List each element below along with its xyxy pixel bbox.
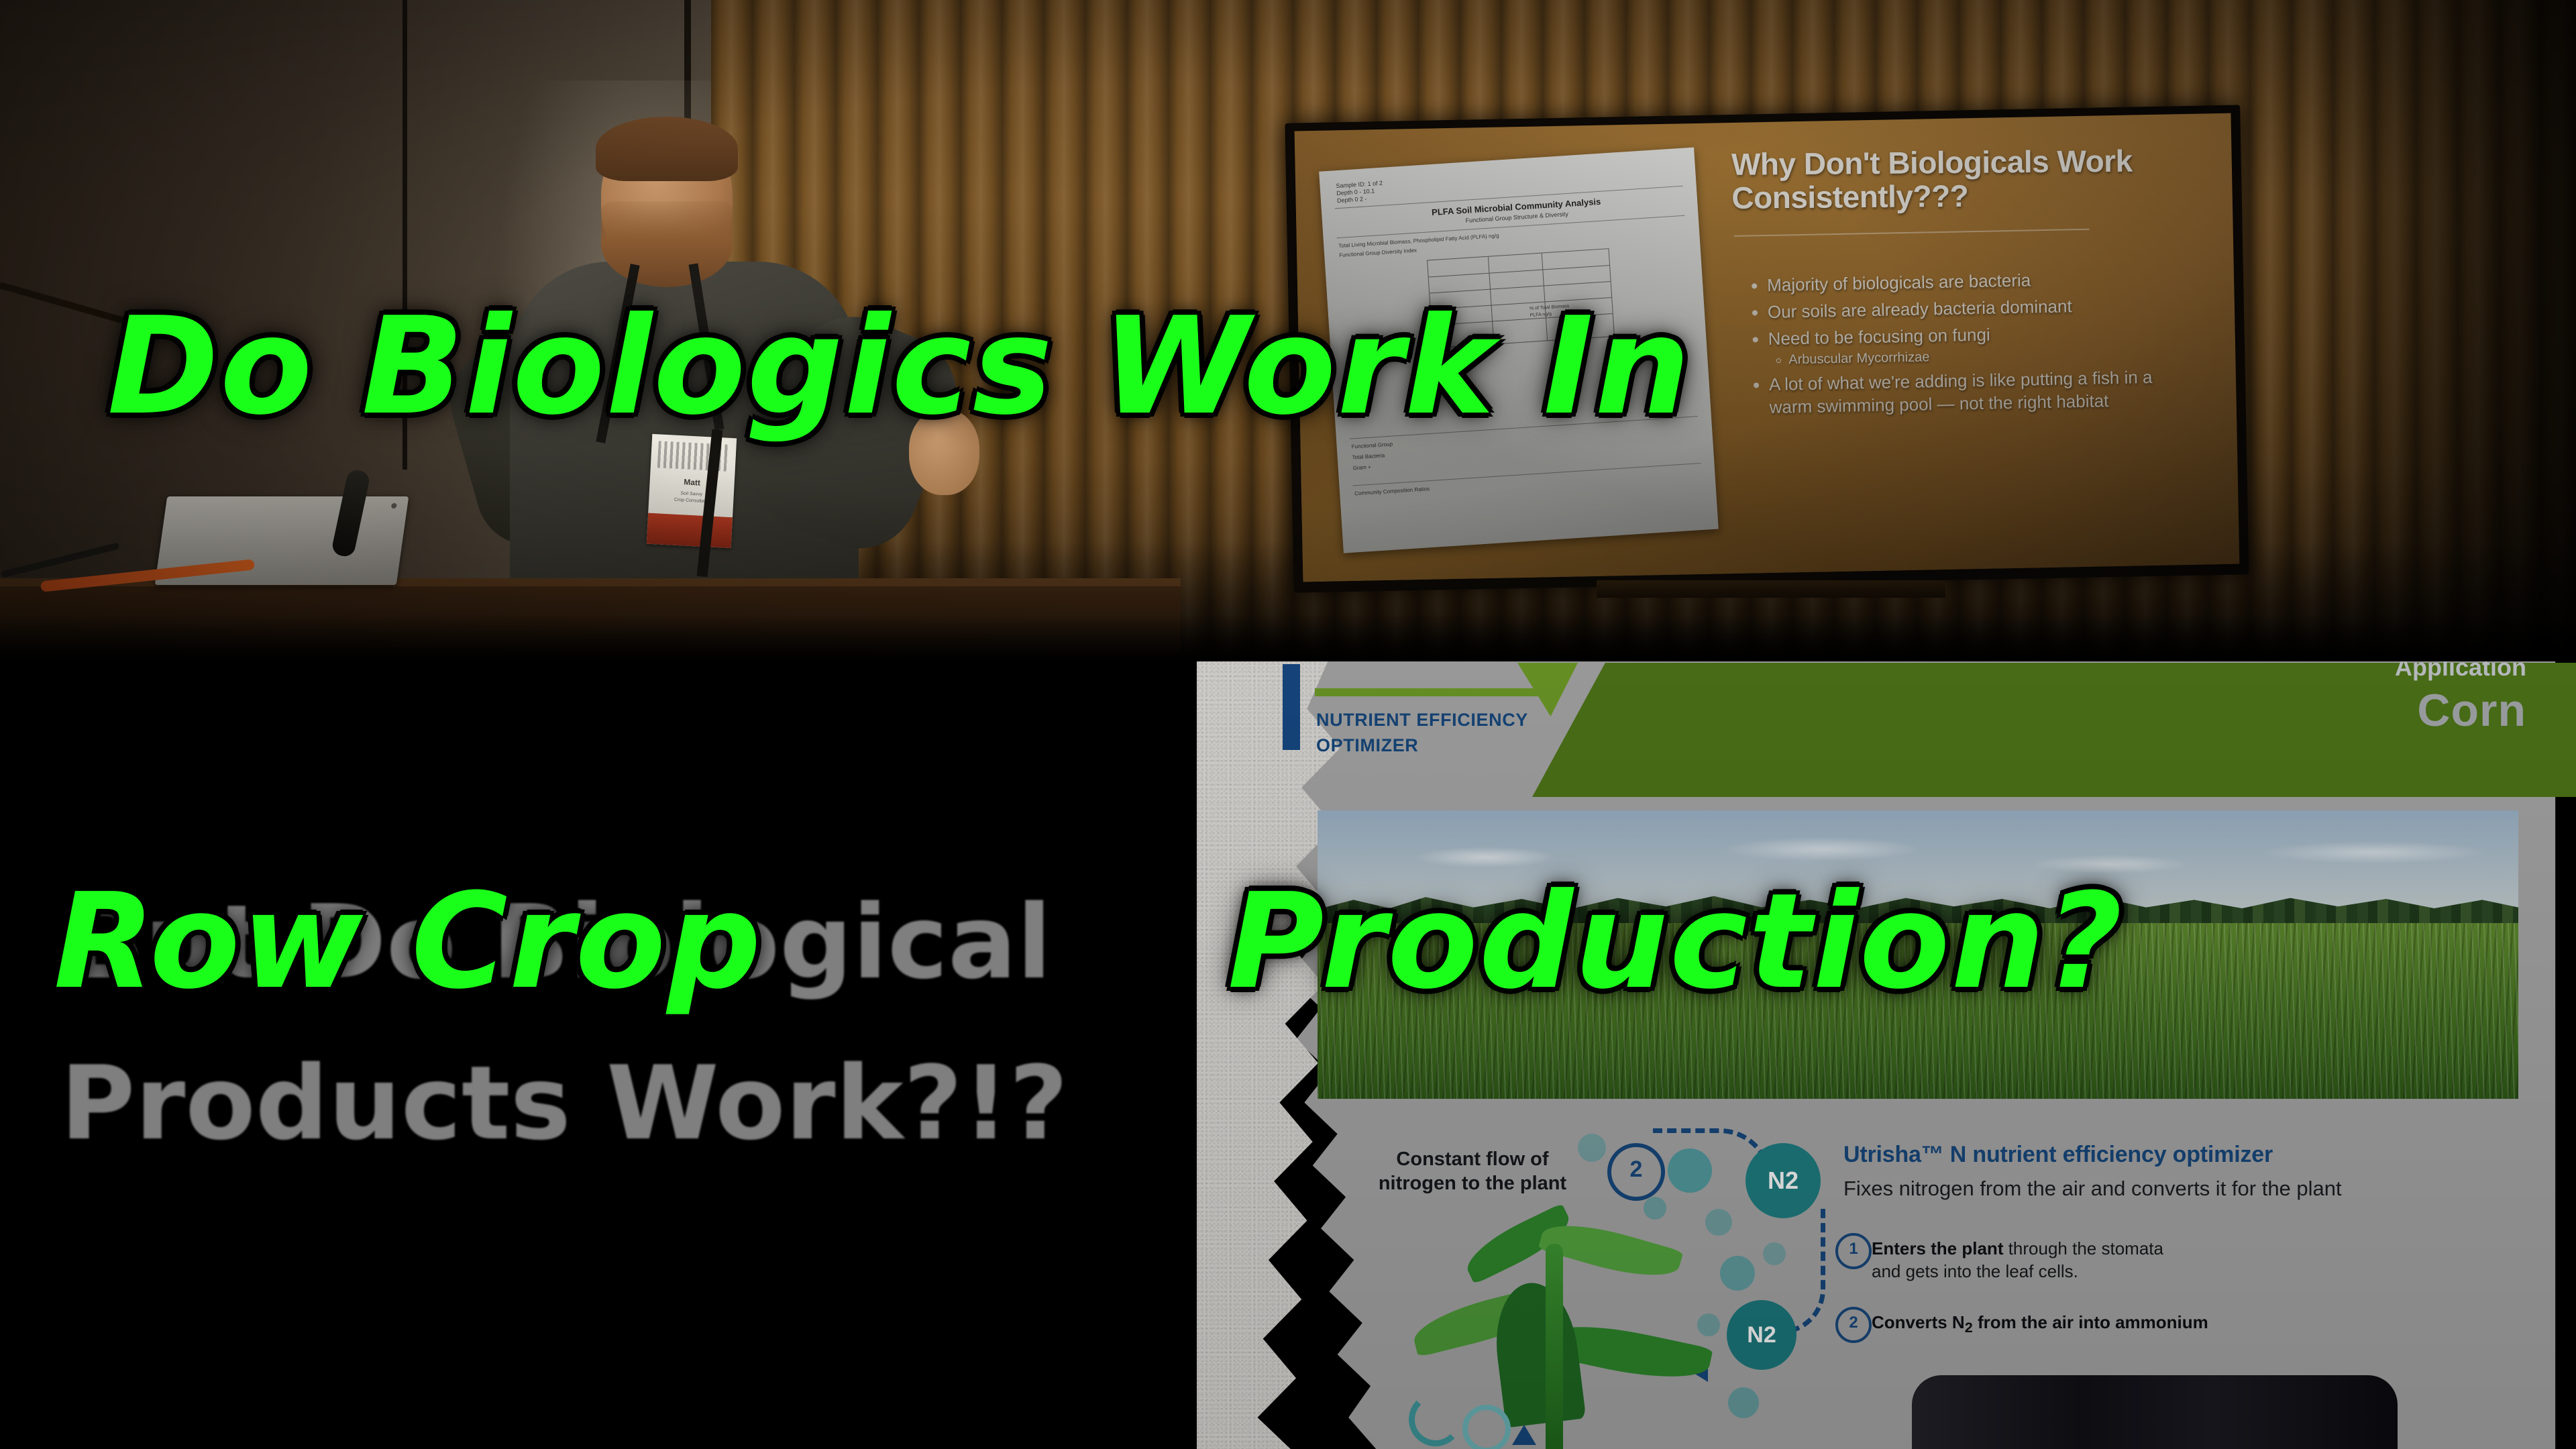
step-1-rest: through the stomata bbox=[2003, 1238, 2163, 1258]
nitrogen-bubble bbox=[1578, 1134, 1606, 1162]
step-1-text: Enters the plant through the stomata and… bbox=[1872, 1237, 2163, 1283]
corn-product-slide: NUTRIENT EFFICIENCY OPTIMIZER Applicatio… bbox=[1197, 661, 2576, 1449]
n2-molecule-icon: N2 bbox=[1727, 1300, 1796, 1370]
callout-line-2: nitrogen to the plant bbox=[1379, 1173, 1566, 1194]
decor-circle-icon bbox=[1462, 1405, 1511, 1449]
corn-stalk bbox=[1546, 1244, 1563, 1449]
product-subheading: Fixes nitrogen from the air and converts… bbox=[1843, 1177, 2342, 1201]
brand-green-rule bbox=[1315, 688, 1551, 696]
step-2-bold: Converts N2 from the air into ammonium bbox=[1872, 1312, 2208, 1332]
dark-inset-overlay bbox=[1912, 1375, 2398, 1449]
brand-blue-tab bbox=[1283, 664, 1300, 750]
decor-triangle-icon bbox=[1512, 1425, 1536, 1445]
brand-line-1: NUTRIENT EFFICIENCY bbox=[1316, 710, 1528, 731]
application-label: Application bbox=[2395, 661, 2526, 682]
step-2-bold-text: Converts N bbox=[1872, 1312, 1965, 1332]
decor-arc-icon bbox=[1409, 1393, 1462, 1446]
n2-label: N2 bbox=[1747, 1322, 1776, 1348]
n2-molecule-icon: N2 bbox=[1746, 1143, 1821, 1218]
brand-line-2: OPTIMIZER bbox=[1316, 735, 1418, 756]
callout-line-1: Constant flow of bbox=[1396, 1148, 1548, 1170]
step-2-subscript: 2 bbox=[1965, 1319, 1973, 1336]
title-line-2-row-crop: Row Crop bbox=[54, 865, 763, 1018]
title-line-3-production: Production? bbox=[1228, 865, 2124, 1018]
n2-label: N2 bbox=[1768, 1167, 1799, 1194]
title-line-1: Do Biologics Work In bbox=[107, 288, 1691, 445]
ghost-text-line-2: Products Work?!? bbox=[60, 1044, 1068, 1163]
step-1-badge: 1 bbox=[1835, 1233, 1872, 1269]
crop-label: Corn bbox=[2417, 684, 2526, 737]
photo-bottom-fade bbox=[0, 614, 2576, 661]
nitrogen-bubble bbox=[1728, 1387, 1759, 1418]
diagram-callout: Constant flow of nitrogen to the plant bbox=[1342, 1147, 1603, 1195]
step-1-line2: and gets into the leaf cells. bbox=[1872, 1261, 2078, 1281]
step-2-text: Converts N2 from the air into ammonium bbox=[1872, 1311, 2208, 1339]
thumbnail-canvas: Sample ID: 1 of 2 Depth 0 - 10.1 Depth 0… bbox=[0, 0, 2576, 1449]
step-2-badge: 2 bbox=[1835, 1307, 1872, 1343]
product-heading: Utrisha™ N nutrient efficiency optimizer bbox=[1843, 1142, 2273, 1168]
step-2-rest: from the air into ammonium bbox=[1973, 1312, 2208, 1332]
corn-plant-illustration bbox=[1397, 1203, 1712, 1449]
step-1-bold: Enters the plant bbox=[1872, 1238, 2003, 1258]
nitrogen-bubble bbox=[1720, 1256, 1755, 1291]
